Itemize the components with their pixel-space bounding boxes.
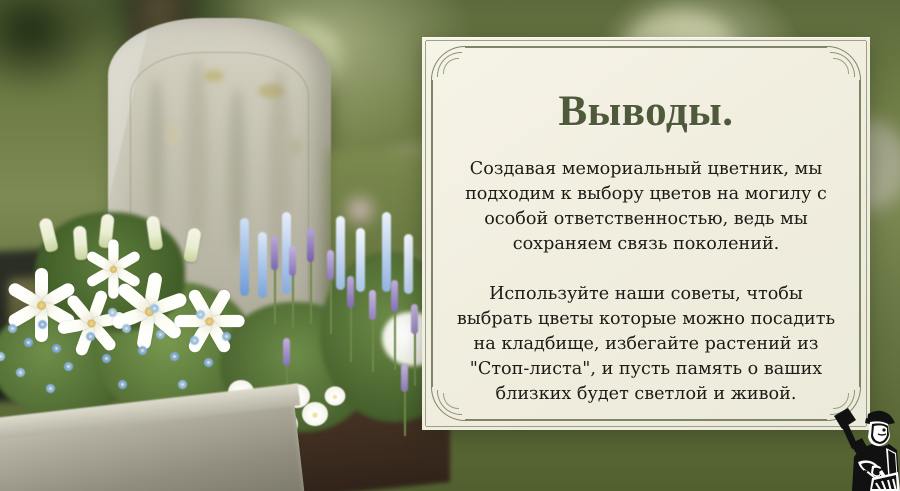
forget-me-not xyxy=(204,358,213,367)
forget-me-not xyxy=(46,384,55,393)
lavender-spike xyxy=(391,280,398,312)
lavender-spike xyxy=(369,290,376,320)
lavender-stem xyxy=(310,258,312,324)
delphinium-spire xyxy=(336,216,345,290)
stonemason-logo xyxy=(828,404,900,491)
delphinium-spire xyxy=(404,234,413,294)
lavender-stem xyxy=(274,264,276,324)
paragraph-2: Используйте наши советы, чтобы выбрать ц… xyxy=(456,282,836,407)
frame-corner-arc-tr xyxy=(826,46,861,81)
lavender-spike xyxy=(271,236,278,270)
lavender-stem xyxy=(350,304,352,362)
delphinium-spire xyxy=(356,228,365,292)
forget-me-not xyxy=(86,332,95,341)
forget-me-not xyxy=(122,324,131,333)
lichen-patch xyxy=(204,70,224,82)
lichen-patch xyxy=(258,84,284,98)
page-title: Выводы. xyxy=(422,87,870,136)
white-lily xyxy=(174,286,244,356)
lichen-patch xyxy=(290,138,302,156)
lavender-stem xyxy=(414,330,416,386)
conclusion-card: Выводы. Создавая мемориальный цветник, м… xyxy=(422,37,870,430)
lavender-spike xyxy=(307,228,314,262)
delphinium-spire xyxy=(382,212,391,292)
lavender-stem xyxy=(394,308,396,370)
paragraph-1: Создавая мемориальный цветник, мы подход… xyxy=(456,157,836,257)
forget-me-not xyxy=(170,352,179,361)
forget-me-not xyxy=(64,362,73,371)
forget-me-not xyxy=(38,320,47,329)
forget-me-not xyxy=(196,310,205,319)
forget-me-not xyxy=(118,380,127,389)
frame-outer-bottom xyxy=(426,426,866,427)
forget-me-not xyxy=(108,308,117,317)
frame-corner-arc-tl xyxy=(437,52,462,77)
forget-me-not xyxy=(24,338,33,347)
lavender-stem xyxy=(330,276,332,334)
delphinium-spire xyxy=(240,218,249,296)
forget-me-not xyxy=(178,380,187,389)
lily-bud xyxy=(183,227,202,263)
lavender-stem xyxy=(292,272,294,328)
lavender-spike xyxy=(347,276,354,308)
white-petunia xyxy=(302,402,328,426)
lavender-spike xyxy=(327,250,334,280)
frame-outer-top xyxy=(426,40,866,41)
forget-me-not xyxy=(52,344,61,353)
white-petunia xyxy=(325,386,346,405)
weather-streak xyxy=(148,78,164,228)
frame-corner-arc-tl xyxy=(443,58,459,74)
forget-me-not xyxy=(222,332,231,341)
lichen-patch xyxy=(166,124,180,146)
forget-me-not xyxy=(8,324,17,333)
forget-me-not xyxy=(138,346,147,355)
forget-me-not xyxy=(150,304,159,313)
frame-corner-arc-tl xyxy=(431,46,466,81)
frame-line-bottom xyxy=(465,419,827,421)
memorial-flower-bed xyxy=(0,212,440,491)
white-lily xyxy=(83,239,142,298)
frame-corner-arc-tr xyxy=(830,52,855,77)
lavender-stem xyxy=(404,388,406,436)
lavender-spike xyxy=(401,364,408,392)
forget-me-not xyxy=(16,368,25,377)
forget-me-not xyxy=(102,354,111,363)
lavender-spike xyxy=(411,304,418,334)
frame-line-top xyxy=(465,46,827,48)
forget-me-not xyxy=(156,330,165,339)
card-body: Создавая мемориальный цветник, мы подход… xyxy=(456,157,836,407)
lavender-stem xyxy=(372,316,374,372)
lavender-spike xyxy=(283,338,290,366)
lavender-spike xyxy=(289,246,296,276)
frame-corner-arc-tr xyxy=(833,58,849,74)
forget-me-not xyxy=(190,336,199,345)
delphinium-spire xyxy=(258,232,267,298)
graphic-stage: Выводы. Создавая мемориальный цветник, м… xyxy=(0,0,900,491)
